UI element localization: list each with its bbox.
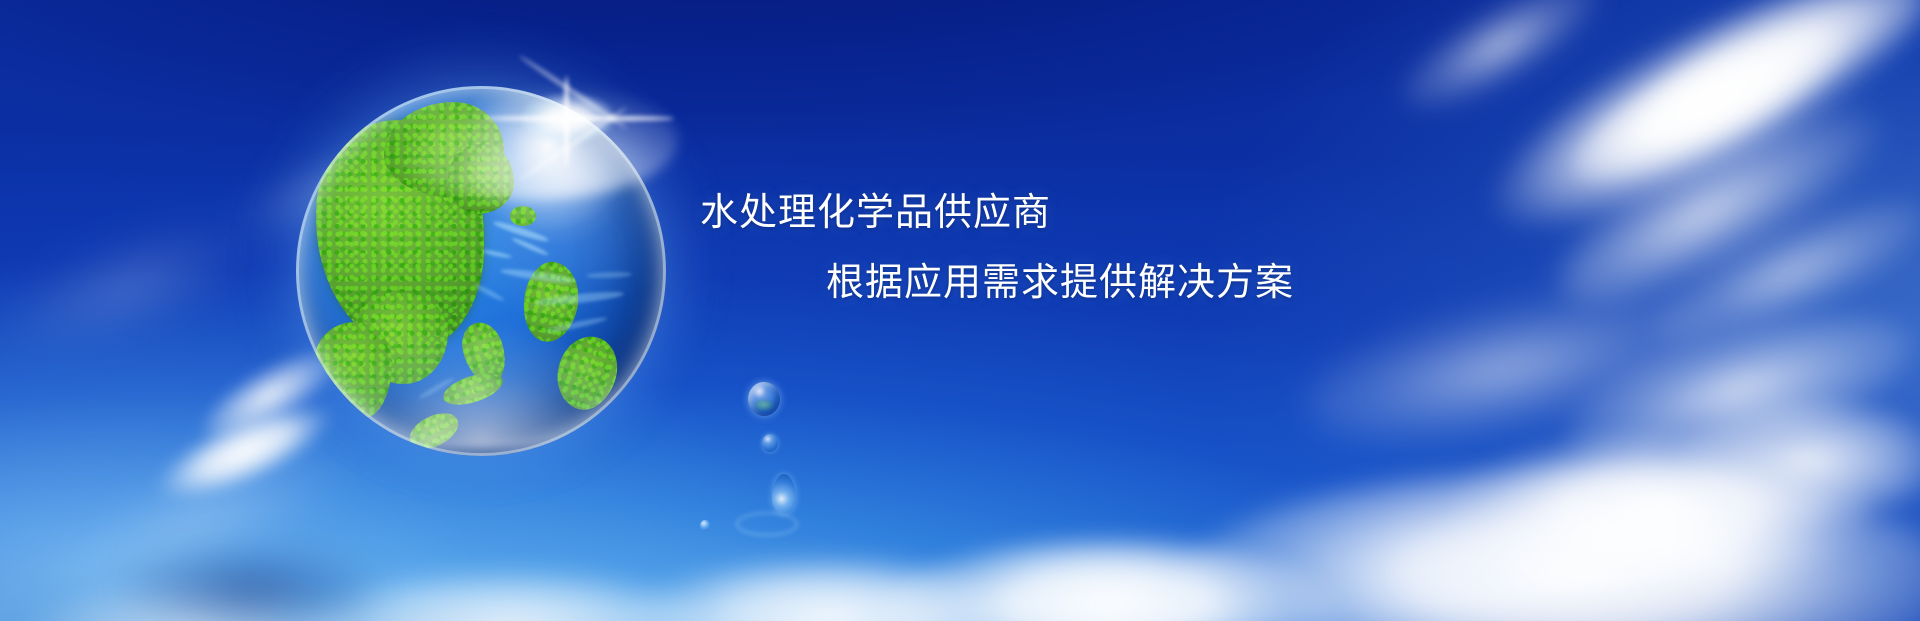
- sky-vignette: [0, 0, 1920, 621]
- hero-banner: 水处理化学品供应商 根据应用需求提供解决方案: [0, 0, 1920, 621]
- banner-subline: 根据应用需求提供解决方案: [826, 264, 1294, 302]
- banner-headline: 水处理化学品供应商: [700, 194, 1051, 232]
